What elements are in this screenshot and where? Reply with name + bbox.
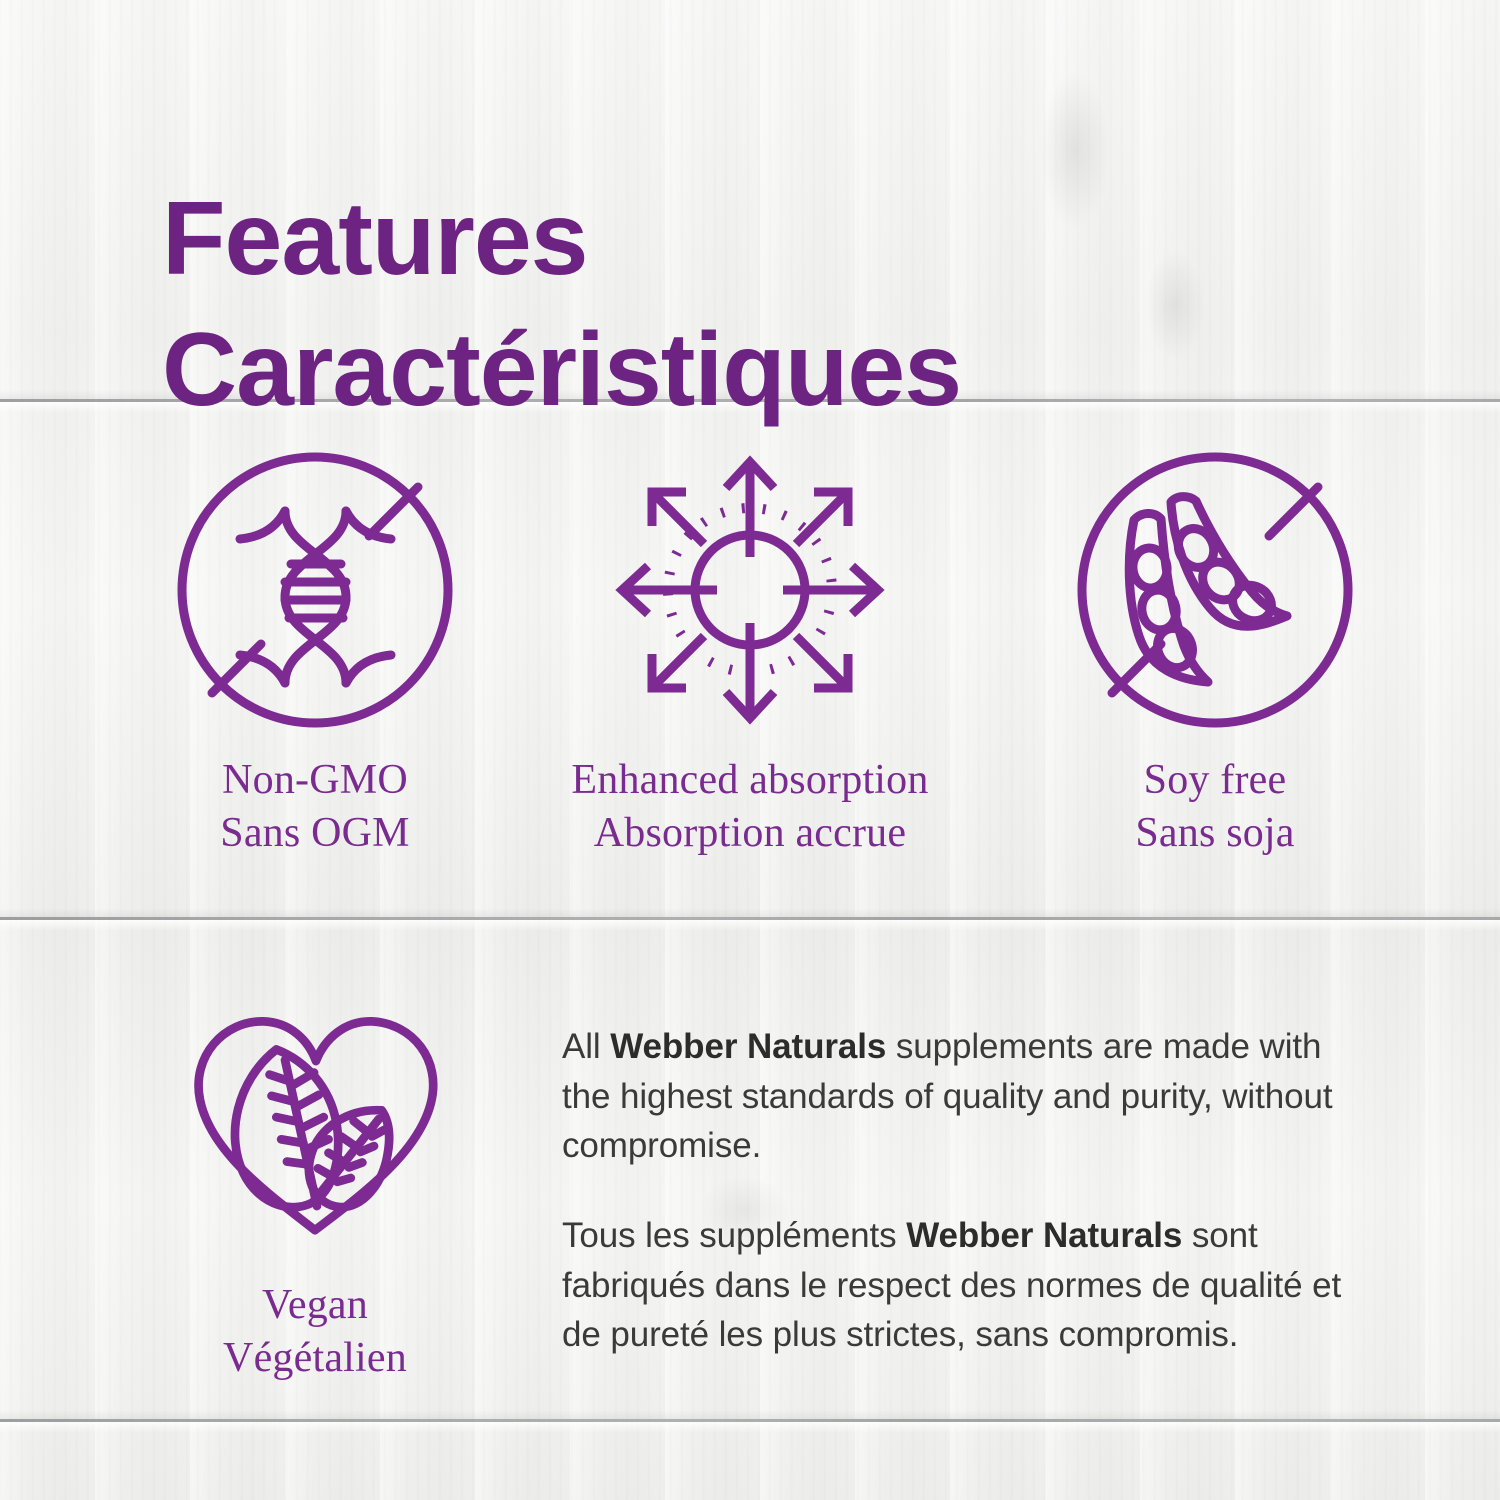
feature-caption: Vegan Végétalien xyxy=(110,1279,520,1385)
feature-label-fr: Sans OGM xyxy=(110,807,520,860)
no-soy-beans-icon xyxy=(1065,440,1365,740)
feature-label-fr: Sans soja xyxy=(1010,807,1420,860)
feature-vegan: Vegan Végétalien xyxy=(110,975,520,1385)
vegan-heart-leaves-icon xyxy=(170,975,460,1265)
feature-soy-free: Soy free Sans soja xyxy=(1010,440,1420,860)
statement-fr-pre: Tous les suppléments xyxy=(562,1216,906,1255)
feature-label-en: Non-GMO xyxy=(110,754,520,807)
brand-statement-fr: Tous les suppléments Webber Naturals son… xyxy=(562,1211,1374,1360)
feature-label-en: Vegan xyxy=(110,1279,520,1332)
statement-en-pre: All xyxy=(562,1027,610,1066)
page-title-line-fr: Caractéristiques xyxy=(162,305,1262,436)
page-title: Features Caractéristiques xyxy=(162,174,1262,436)
feature-label-en: Enhanced absorption xyxy=(545,754,955,807)
feature-label-fr: Végétalien xyxy=(110,1332,520,1385)
feature-label-fr: Absorption accrue xyxy=(545,807,955,860)
brand-statement: All Webber Naturals supplements are made… xyxy=(562,1022,1374,1360)
feature-non-gmo: Non-GMO Sans OGM xyxy=(110,440,520,860)
no-gmo-dna-icon xyxy=(165,440,465,740)
brand-name-fr: Webber Naturals xyxy=(906,1216,1182,1255)
feature-label-en: Soy free xyxy=(1010,754,1420,807)
feature-caption: Enhanced absorption Absorption accrue xyxy=(545,754,955,860)
feature-caption: Non-GMO Sans OGM xyxy=(110,754,520,860)
page-title-line-en: Features xyxy=(162,181,588,297)
feature-enhanced-absorption: Enhanced absorption Absorption accrue xyxy=(545,440,955,860)
feature-panel: Features Caractéristiques xyxy=(0,0,1500,1500)
enhanced-absorption-arrows-icon xyxy=(600,440,900,740)
brand-statement-en: All Webber Naturals supplements are made… xyxy=(562,1022,1374,1171)
feature-caption: Soy free Sans soja xyxy=(1010,754,1420,860)
brand-name-en: Webber Naturals xyxy=(610,1027,886,1066)
